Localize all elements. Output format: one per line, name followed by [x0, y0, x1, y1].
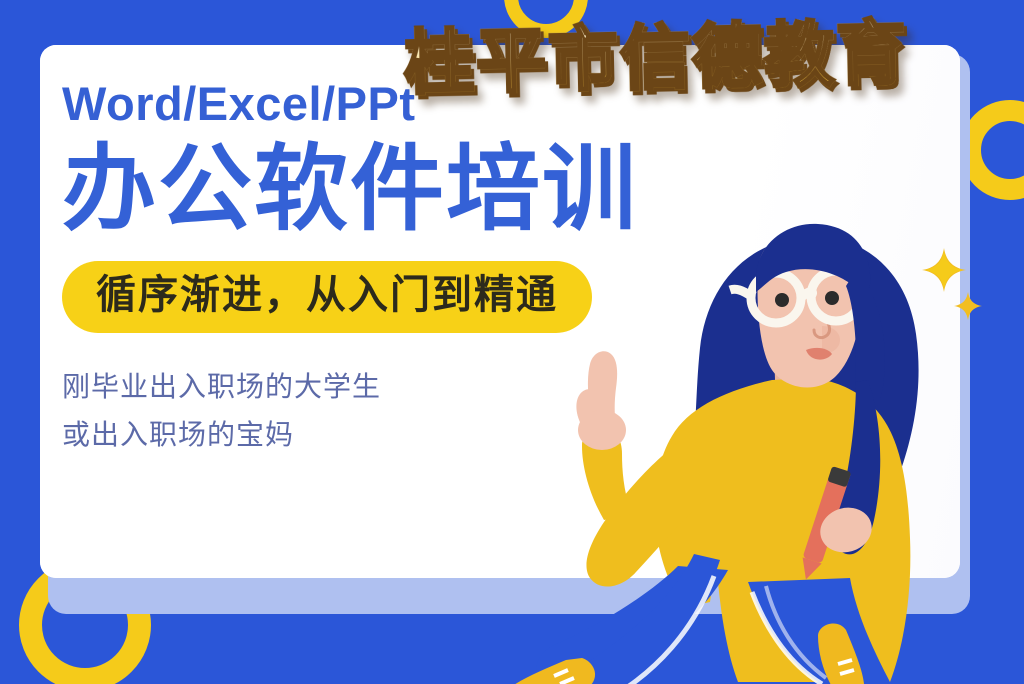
- page-title: 办公软件培训: [62, 139, 762, 239]
- sparkle-large-icon: [922, 248, 966, 297]
- sparkle-small-icon: [954, 292, 982, 325]
- watermark-text: 桂平市信德教育: [403, 17, 908, 101]
- tagline-badge: 循序渐进，从入门到精通: [62, 261, 592, 333]
- poster-canvas: Word/Excel/PPt 办公软件培训 循序渐进，从入门到精通 刚毕业出入职…: [0, 0, 1024, 684]
